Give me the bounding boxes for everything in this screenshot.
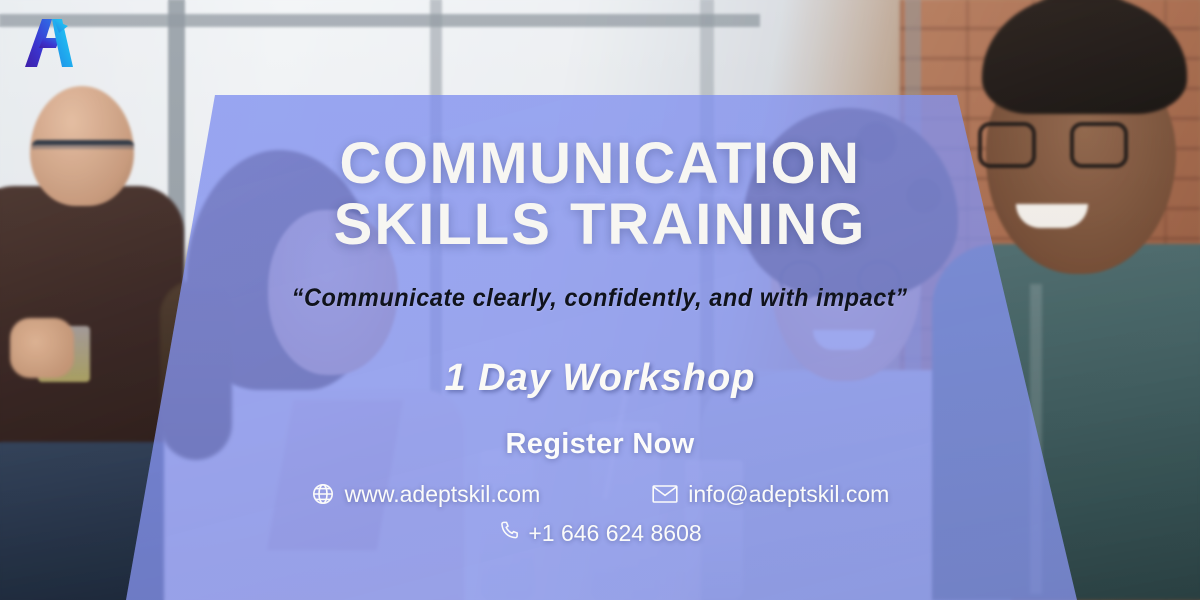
title-line-1: COMMUNICATION — [339, 131, 860, 196]
website-link[interactable]: www.adeptskil.com — [311, 481, 541, 508]
website-label: www.adeptskil.com — [345, 481, 541, 508]
globe-icon — [311, 482, 335, 506]
email-link[interactable]: info@adeptskil.com — [652, 481, 889, 508]
page-title: COMMUNICATION SKILLS TRAINING — [334, 133, 867, 256]
tagline: “Communicate clearly, confidently, and w… — [292, 284, 908, 313]
register-now-label[interactable]: Register Now — [506, 428, 695, 461]
event-banner: COMMUNICATION SKILLS TRAINING “Communica… — [0, 0, 1200, 600]
workshop-duration: 1 Day Workshop — [444, 357, 755, 400]
phone-link[interactable]: +1 646 624 8608 — [498, 520, 701, 548]
email-label: info@adeptskil.com — [688, 481, 889, 508]
phone-icon — [498, 520, 520, 548]
banner-content: COMMUNICATION SKILLS TRAINING “Communica… — [0, 0, 1200, 600]
phone-label: +1 646 624 8608 — [528, 520, 701, 547]
envelope-icon — [652, 483, 678, 505]
title-line-2: SKILLS TRAINING — [334, 194, 867, 255]
contact-row: www.adeptskil.com info@adeptskil.com — [311, 481, 890, 508]
